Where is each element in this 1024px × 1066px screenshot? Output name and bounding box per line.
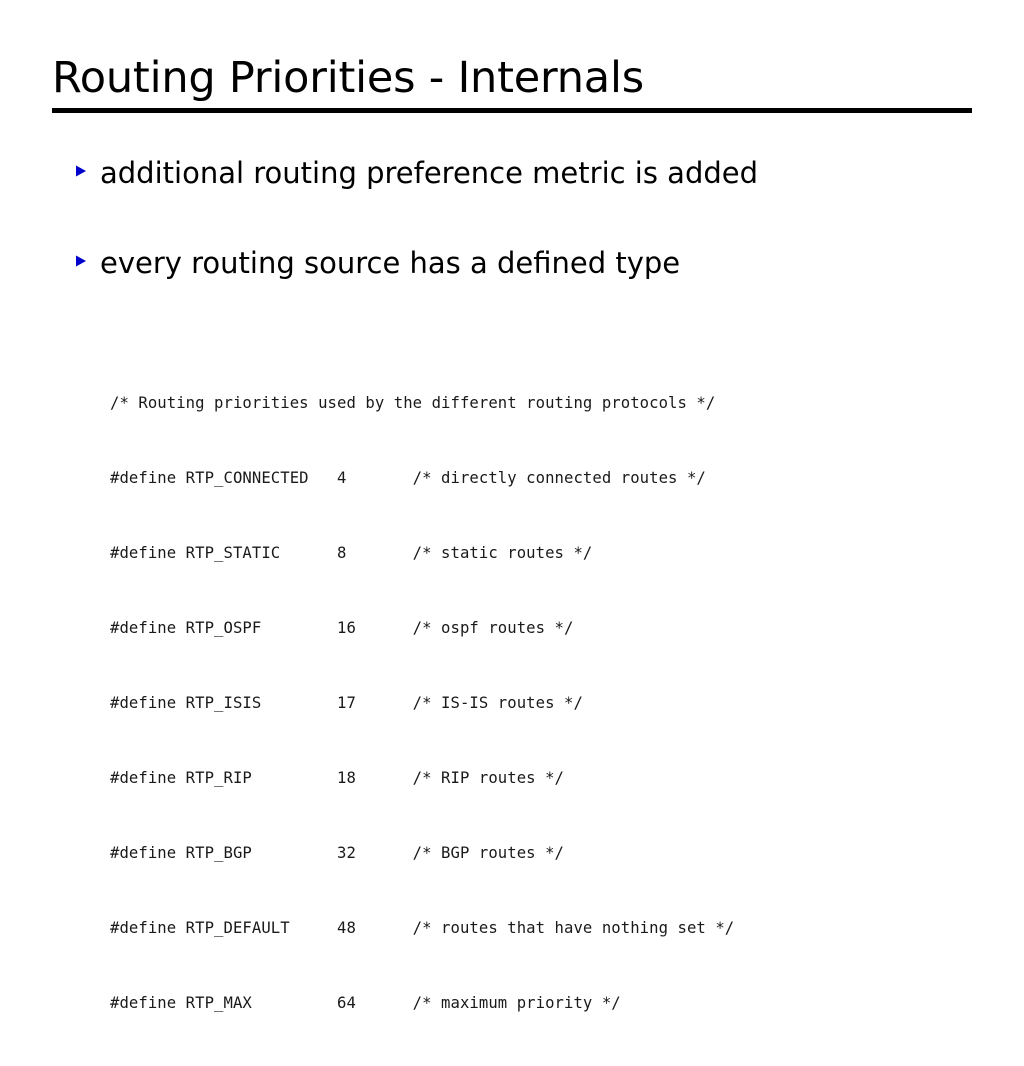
list-item: every routing source has a defined type (74, 246, 974, 280)
bullet-text: additional routing preference metric is … (100, 156, 758, 190)
code-block: /* Routing priorities used by the differ… (110, 341, 734, 1066)
slide-canvas: Routing Priorities - Internals additiona… (0, 0, 1024, 768)
list-item: additional routing preference metric is … (74, 156, 974, 190)
page-title: Routing Priorities - Internals (52, 52, 972, 104)
code-line: #define RTP_DEFAULT 48 /* routes that ha… (110, 916, 734, 941)
bullet-text: every routing source has a defined type (100, 246, 680, 280)
triangle-right-icon (74, 254, 88, 268)
code-line: #define RTP_OSPF 16 /* ospf routes */ (110, 616, 734, 641)
code-line: /* Routing priorities used by the differ… (110, 391, 734, 416)
code-line: #define RTP_MAX 64 /* maximum priority *… (110, 991, 734, 1016)
code-line: #define RTP_RIP 18 /* RIP routes */ (110, 766, 734, 791)
code-line: #define RTP_BGP 32 /* BGP routes */ (110, 841, 734, 866)
code-line: #define RTP_ISIS 17 /* IS-IS routes */ (110, 691, 734, 716)
code-line: #define RTP_STATIC 8 /* static routes */ (110, 541, 734, 566)
triangle-right-icon (74, 164, 88, 178)
title-underline-rule (52, 108, 972, 113)
bullet-list: additional routing preference metric is … (74, 156, 974, 336)
code-line: #define RTP_CONNECTED 4 /* directly conn… (110, 466, 734, 491)
title-block: Routing Priorities - Internals (52, 52, 972, 113)
